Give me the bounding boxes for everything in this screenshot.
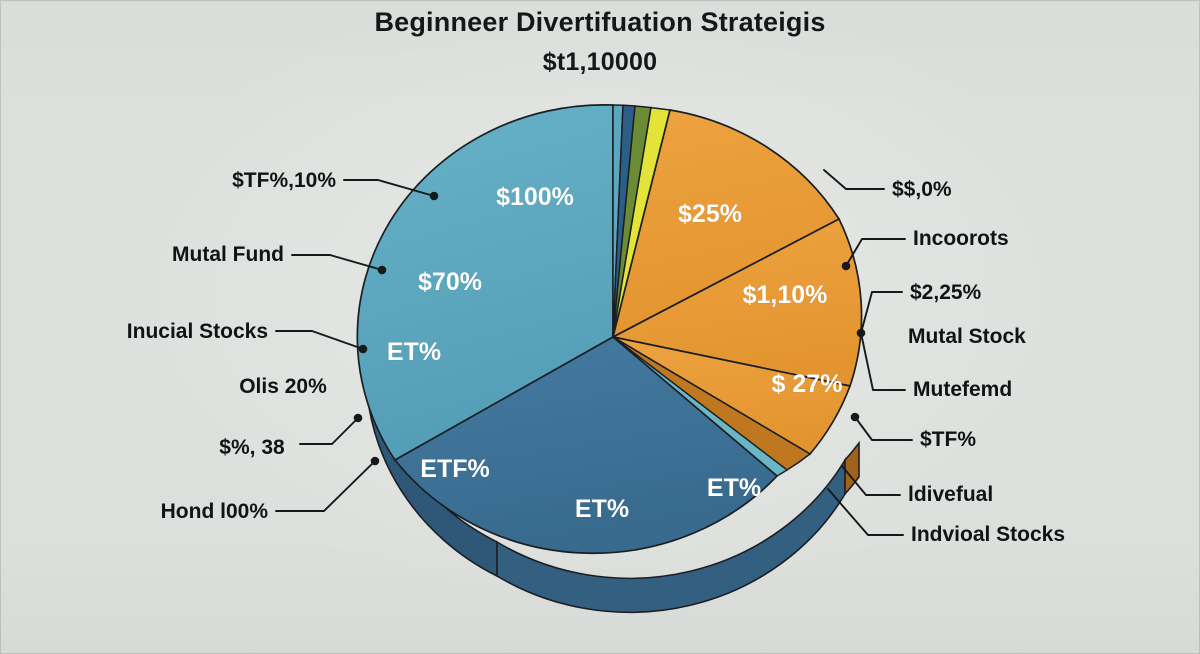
- depth-wall-orange: [845, 443, 859, 494]
- chart-title: Beginneer Divertifuation Strateigis: [0, 6, 1200, 40]
- leader-dot-right-2: [842, 262, 851, 271]
- callout-label-left-2: Mutal Fund: [172, 243, 284, 266]
- leader-line-right-4: [861, 333, 905, 390]
- callout-label-left-5: $%, 38: [219, 436, 285, 459]
- slice-value-steel-1: ETF%: [420, 455, 489, 483]
- leader-line-left-5: [276, 461, 375, 511]
- leader-line-right-5: [855, 417, 912, 440]
- callout-label-right-8: Indvioal Stocks: [911, 523, 1065, 546]
- callout-label-right-7: ldivefual: [908, 483, 993, 506]
- leader-dot-left-1: [430, 192, 439, 201]
- callout-label-right-3: $2,25%: [910, 281, 982, 304]
- chart-subtitle: $t1,10000: [0, 46, 1200, 79]
- pie-svg: $100% $70% ET% $25% $1,10% $ 27% ETF% ET…: [0, 0, 1200, 654]
- slice-value-light-blue-3: ET%: [387, 338, 441, 366]
- pie-chart-figure: Beginneer Divertifuation Strateigis $t1,…: [0, 0, 1200, 654]
- callout-label-left-6: Hond l00%: [161, 500, 269, 523]
- slice-value-light-blue-1: $100%: [496, 183, 574, 211]
- callout-label-right-2: Incoorots: [913, 227, 1009, 250]
- leader-dot-right-5: [851, 413, 860, 422]
- leader-dot-left-4: [354, 414, 363, 423]
- callout-label-right-4: Mutal Stock: [908, 325, 1026, 348]
- slice-value-steel-2: ET%: [575, 495, 629, 523]
- slice-value-steel-3: ET%: [707, 474, 761, 502]
- slice-value-orange-3: $ 27%: [772, 370, 843, 398]
- slice-value-orange-2: $1,10%: [743, 281, 828, 309]
- title-block: Beginneer Divertifuation Strateigis $t1,…: [0, 6, 1200, 78]
- pie-slices-top-face: [357, 105, 861, 553]
- leader-line-right-3: [861, 292, 902, 333]
- leader-line-left-4: [300, 418, 358, 444]
- callout-label-left-4: Olis 20%: [239, 375, 327, 398]
- callout-label-right-6: $TF%: [920, 428, 976, 451]
- leader-dot-left-5: [371, 457, 380, 466]
- callouts-right: $$,0% Incoorots $2,25% Mutal Stock Mutef…: [824, 170, 1065, 546]
- callout-label-right-5: Mutefemd: [913, 378, 1012, 401]
- callout-label-left-3: Inucial Stocks: [127, 320, 268, 343]
- leader-line-right-1: [824, 170, 884, 189]
- callout-label-left-1: $TF%,10%: [232, 169, 336, 192]
- leader-line-left-3: [276, 331, 363, 349]
- callout-label-right-1: $$,0%: [892, 178, 952, 201]
- leader-dot-left-3: [359, 345, 368, 354]
- leader-dot-left-2: [378, 266, 387, 275]
- slice-value-light-blue-2: $70%: [418, 268, 482, 296]
- slice-value-orange-1: $25%: [678, 200, 742, 228]
